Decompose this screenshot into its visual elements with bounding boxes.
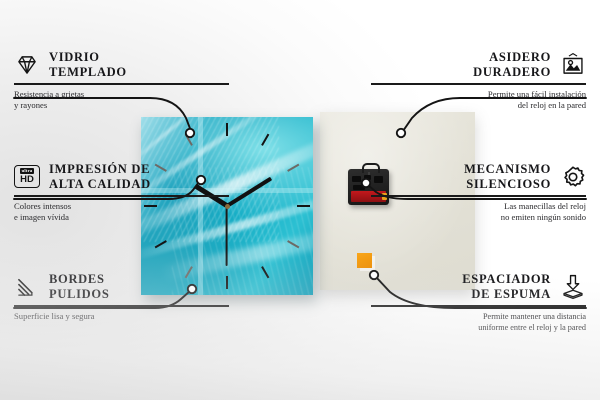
feature-rule (371, 305, 586, 307)
feature-title-line2: PULIDOS (49, 287, 109, 302)
feature-title-line2: TEMPLADO (49, 65, 127, 80)
callout-dot-asidero (397, 129, 405, 137)
feature-vidrio-templado: VIDRIO TEMPLADO Resistencia a grietas y … (14, 50, 229, 111)
feature-title-line1: BORDES (49, 272, 109, 287)
feature-rule (14, 83, 229, 85)
polished-edges-icon (14, 274, 40, 300)
feature-title-line2: DURADERO (473, 65, 551, 80)
feature-rule (14, 305, 229, 307)
feature-bordes-pulidos: BORDES PULIDOS Superficie lisa y segura (14, 272, 229, 322)
feature-title-line1: MECANISMO (464, 162, 551, 177)
feature-title-line2: SILENCIOSO (464, 177, 551, 192)
feature-impresion-alta-calidad: ultra HD IMPRESIÓN DE ALTA CALIDAD Color… (14, 162, 229, 223)
feature-title-line1: ASIDERO (473, 50, 551, 65)
feature-rule (371, 83, 586, 85)
feature-description: Colores intensos e imagen vívida (14, 201, 229, 223)
hanging-frame-icon (560, 52, 586, 78)
callout-dot-mecanismo (362, 179, 370, 187)
feature-mecanismo-silencioso: MECANISMO SILENCIOSO Las manecillas del … (371, 162, 586, 223)
ultra-hd-icon-large-text: HD (20, 175, 34, 185)
feature-description: Permite una fácil instalación del reloj … (371, 89, 586, 111)
gear-icon (560, 164, 586, 190)
ultra-hd-icon: ultra HD (14, 165, 40, 188)
infographic-canvas: VIDRIO TEMPLADO Resistencia a grietas y … (0, 0, 600, 400)
feature-title-line1: IMPRESIÓN DE (49, 162, 151, 177)
feature-title-line1: VIDRIO (49, 50, 127, 65)
feature-rule (371, 195, 586, 197)
feature-title-line2: DE ESPUMA (462, 287, 551, 302)
feature-description: Las manecillas del reloj no emiten ningú… (371, 201, 586, 223)
diamond-icon (14, 52, 40, 78)
feature-espaciador-espuma: ESPACIADOR DE ESPUMA Permite mantener un… (371, 272, 586, 333)
press-pad-icon (560, 274, 586, 300)
feature-asidero-duradero: ASIDERO DURADERO Permite una fácil insta… (371, 50, 586, 111)
feature-description: Permite mantener una distancia uniforme … (371, 311, 586, 333)
feature-description: Resistencia a grietas y rayones (14, 89, 229, 111)
feature-rule (14, 195, 229, 197)
feature-title-line2: ALTA CALIDAD (49, 177, 151, 192)
feature-title-line1: ESPACIADOR (462, 272, 551, 287)
feature-description: Superficie lisa y segura (14, 311, 229, 322)
callout-dot-vidrio (186, 129, 194, 137)
